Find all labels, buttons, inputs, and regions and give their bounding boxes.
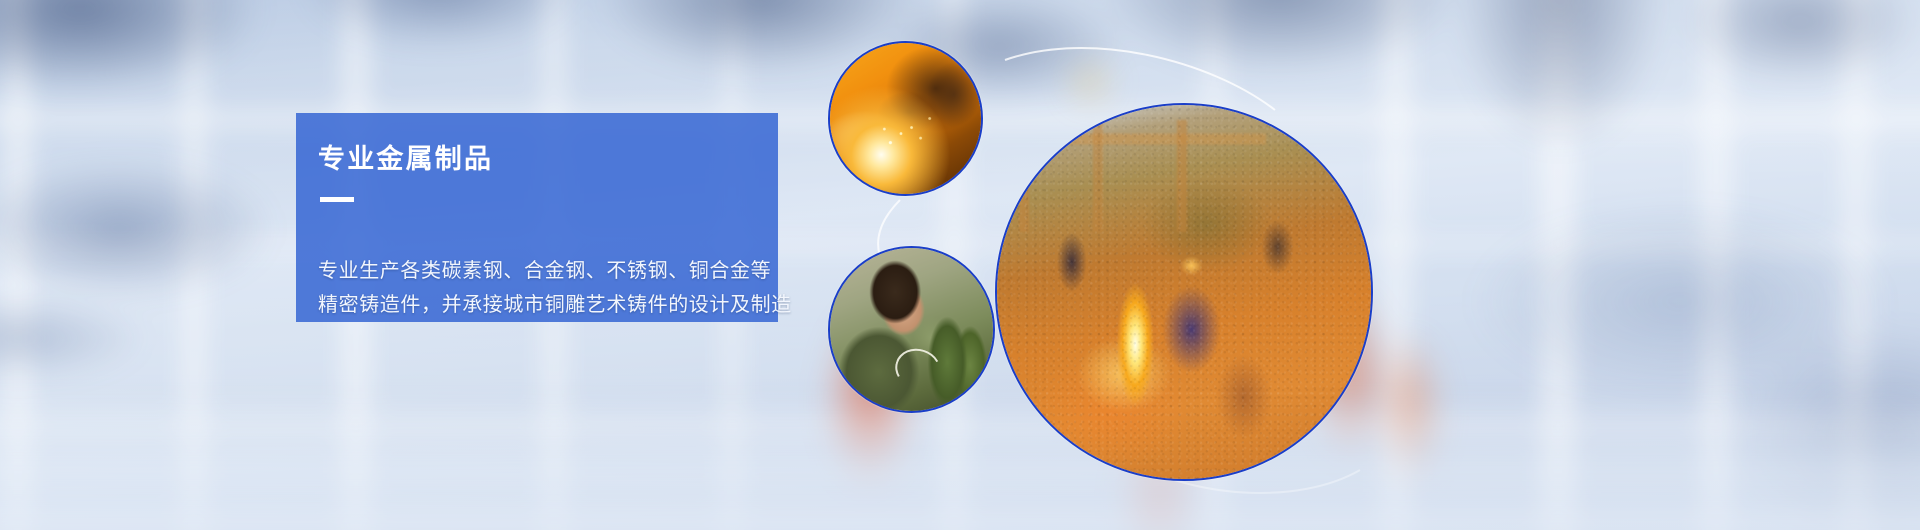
description-text: 专业生产各类碳素钢、合金钢、不锈钢、铜合金等 精密铸造件，并承接城市铜雕艺术铸件… [318,254,878,322]
photo-grain-overlay [997,105,1371,479]
spark-particles [830,43,981,194]
description-line-2: 精密铸造件，并承接城市铜雕艺术铸件的设计及制造 [318,288,878,322]
hero-banner: 专业金属制品 专业生产各类碳素钢、合金钢、不锈钢、铜合金等 精密铸造件，并承接城… [0,0,1920,530]
title-underline-rule [320,197,354,202]
worker-assembly-photo [828,246,995,413]
foundry-molten-pour-photo [995,103,1373,481]
page-title: 专业金属制品 [318,143,778,175]
description-line-1: 专业生产各类碳素钢、合金钢、不锈钢、铜合金等 [318,254,878,288]
headline-panel-inner: 专业金属制品 [296,113,778,202]
welding-sparks-photo [828,41,983,196]
